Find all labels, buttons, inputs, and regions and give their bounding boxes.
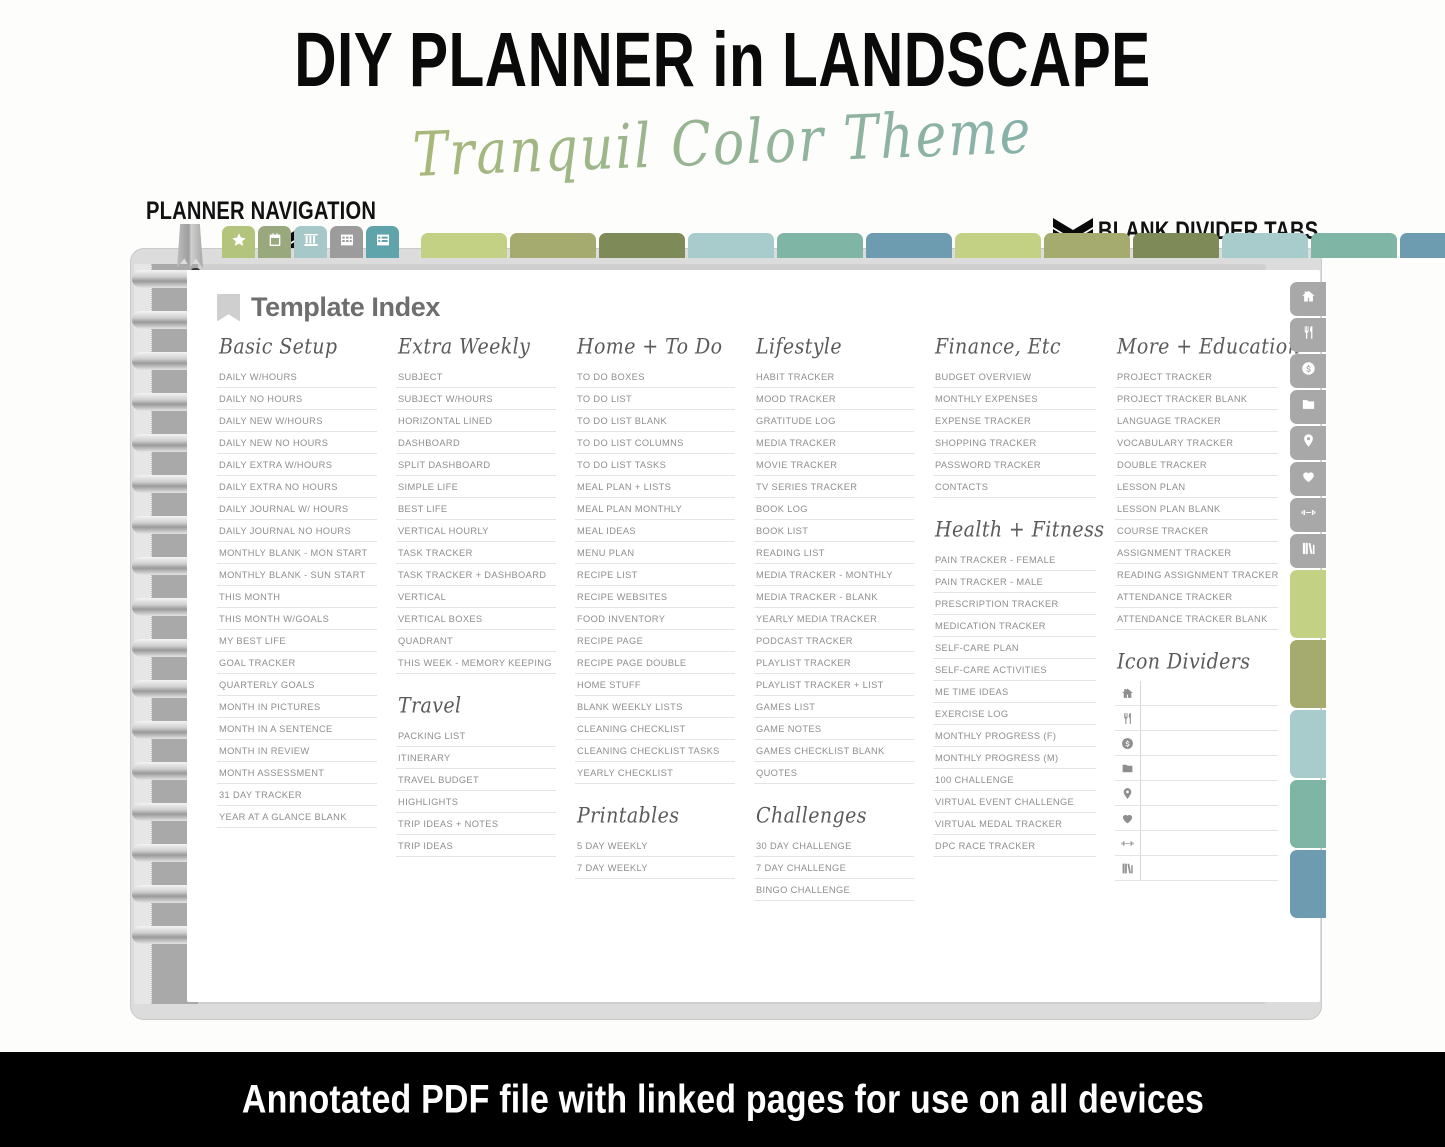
nav-tab-list[interactable] — [366, 226, 399, 258]
index-entry[interactable]: HABIT TRACKER — [754, 366, 914, 388]
page-header-row: Template Index — [187, 270, 1320, 323]
index-entry[interactable]: 7 DAY CHALLENGE — [754, 857, 914, 879]
side-tab-books[interactable] — [1290, 534, 1326, 568]
side-tab-home[interactable] — [1290, 282, 1326, 316]
index-entry[interactable]: CONTACTS — [933, 476, 1096, 498]
blank-divider-tab[interactable] — [1133, 233, 1219, 258]
nav-tab-star[interactable] — [222, 226, 255, 258]
index-entry[interactable]: SELF-CARE PLAN — [933, 637, 1096, 659]
location-icon — [1115, 781, 1141, 805]
footer-banner: Annotated PDF file with linked pages for… — [0, 1052, 1445, 1147]
index-entry[interactable]: 31 DAY TRACKER — [217, 784, 377, 806]
icon-divider-row[interactable] — [1115, 831, 1278, 856]
side-blank-divider-tab[interactable] — [1290, 780, 1326, 848]
index-entry[interactable]: RECIPE WEBSITES — [575, 586, 735, 608]
section-title: More + Education — [1117, 334, 1278, 359]
index-entry[interactable]: SUBJECT — [396, 366, 556, 388]
index-entry[interactable]: READING LIST — [754, 542, 914, 564]
blank-divider-tab[interactable] — [510, 233, 596, 258]
index-entry[interactable]: LESSON PLAN BLANK — [1115, 498, 1278, 520]
bookmark-ribbon — [177, 224, 203, 268]
index-entry[interactable]: MONTH IN A SENTENCE — [217, 718, 377, 740]
home-icon — [1301, 289, 1316, 309]
index-entry[interactable]: THIS MONTH — [217, 586, 377, 608]
index-entry[interactable]: TRAVEL BUDGET — [396, 769, 556, 791]
index-entry[interactable]: GAMES CHECKLIST BLANK — [754, 740, 914, 762]
blank-divider-tab[interactable] — [421, 233, 507, 258]
index-entry[interactable]: THIS WEEK - MEMORY KEEPING — [396, 652, 556, 674]
side-blank-divider-tab[interactable] — [1290, 640, 1326, 708]
index-column: LifestyleHABIT TRACKERMOOD TRACKERGRATIT… — [754, 337, 914, 901]
index-entry[interactable]: MEAL PLAN + LISTS — [575, 476, 735, 498]
index-entry[interactable]: SUBJECT W/HOURS — [396, 388, 556, 410]
index-entry[interactable]: GAME NOTES — [754, 718, 914, 740]
fitness-icon — [1301, 505, 1316, 525]
index-entry[interactable]: PAIN TRACKER - MALE — [933, 571, 1096, 593]
nav-tab-calendar[interactable] — [258, 226, 291, 258]
index-entry[interactable]: PODCAST TRACKER — [754, 630, 914, 652]
index-entry[interactable]: MONTH IN REVIEW — [217, 740, 377, 762]
index-entry[interactable]: TO DO LIST — [575, 388, 735, 410]
location-icon — [1301, 433, 1316, 453]
section-title: Health + Fitness — [935, 517, 1096, 542]
index-entry[interactable]: ITINERARY — [396, 747, 556, 769]
index-entry[interactable]: DOUBLE TRACKER — [1115, 454, 1278, 476]
icon-divider-row[interactable] — [1115, 681, 1278, 706]
index-entry[interactable]: RECIPE PAGE DOUBLE — [575, 652, 735, 674]
blank-divider-tab[interactable] — [866, 233, 952, 258]
index-entry[interactable]: PLAYLIST TRACKER — [754, 652, 914, 674]
blank-divider-tab[interactable] — [777, 233, 863, 258]
index-entry[interactable]: 5 DAY WEEKLY — [575, 835, 735, 857]
index-entry[interactable]: GOAL TRACKER — [217, 652, 377, 674]
section-title: Challenges — [756, 803, 914, 828]
index-entry[interactable]: DAILY NO HOURS — [217, 388, 377, 410]
footer-text: Annotated PDF file with linked pages for… — [241, 1077, 1203, 1123]
index-entry[interactable]: DASHBOARD — [396, 432, 556, 454]
index-entry[interactable]: EXERCISE LOG — [933, 703, 1096, 725]
star-icon — [231, 232, 247, 253]
side-tab-restaurant[interactable] — [1290, 318, 1326, 352]
index-entry[interactable]: COURSE TRACKER — [1115, 520, 1278, 542]
page-header: DIY PLANNER in LANDSCAPE Tranquil Color … — [0, 0, 1445, 174]
money-icon — [1115, 731, 1141, 755]
index-entry[interactable]: MEAL PLAN MONTHLY — [575, 498, 735, 520]
index-entry[interactable]: QUOTES — [754, 762, 914, 784]
blank-divider-tab[interactable] — [688, 233, 774, 258]
restaurant-icon — [1301, 325, 1316, 345]
index-entry[interactable]: MEAL IDEAS — [575, 520, 735, 542]
nav-tab-grid[interactable] — [330, 226, 363, 258]
index-entry[interactable]: DPC RACE TRACKER — [933, 835, 1096, 857]
index-columns: Basic SetupDAILY W/HOURSDAILY NO HOURSDA… — [187, 323, 1320, 901]
side-tab-folder[interactable] — [1290, 390, 1326, 424]
side-blank-divider-tab[interactable] — [1290, 570, 1326, 638]
page-title: Template Index — [251, 292, 440, 323]
side-tab-location[interactable] — [1290, 426, 1326, 460]
money-icon — [1301, 361, 1316, 381]
index-entry[interactable]: MONTHLY EXPENSES — [933, 388, 1096, 410]
index-entry[interactable]: BINGO CHALLENGE — [754, 879, 914, 901]
index-entry[interactable]: FOOD INVENTORY — [575, 608, 735, 630]
books-icon — [1115, 856, 1141, 880]
index-entry[interactable]: VOCABULARY TRACKER — [1115, 432, 1278, 454]
blank-divider-tab[interactable] — [1044, 233, 1130, 258]
heart-icon — [1115, 806, 1141, 830]
index-entry[interactable]: QUARTERLY GOALS — [217, 674, 377, 696]
index-entry[interactable]: DAILY EXTRA W/HOURS — [217, 454, 377, 476]
index-entry[interactable]: CLEANING CHECKLIST TASKS — [575, 740, 735, 762]
index-entry[interactable]: MEDIA TRACKER - BLANK — [754, 586, 914, 608]
index-entry[interactable]: THIS MONTH W/GOALS — [217, 608, 377, 630]
index-entry[interactable]: DAILY W/HOURS — [217, 366, 377, 388]
index-entry[interactable]: CLEANING CHECKLIST — [575, 718, 735, 740]
blank-divider-tab[interactable] — [1311, 233, 1397, 258]
index-entry[interactable]: RECIPE LIST — [575, 564, 735, 586]
index-entry[interactable]: HOME STUFF — [575, 674, 735, 696]
blank-divider-tab[interactable] — [955, 233, 1041, 258]
index-entry[interactable]: YEARLY MEDIA TRACKER — [754, 608, 914, 630]
index-entry[interactable]: MEDIA TRACKER — [754, 432, 914, 454]
index-entry[interactable]: ASSIGNMENT TRACKER — [1115, 542, 1278, 564]
bookmark-icon — [217, 294, 240, 322]
index-column: Home + To DoTO DO BOXESTO DO LISTTO DO L… — [575, 337, 735, 901]
index-entry[interactable]: PLAYLIST TRACKER + LIST — [754, 674, 914, 696]
index-entry[interactable]: ATTENDANCE TRACKER — [1115, 586, 1278, 608]
index-entry[interactable]: ME TIME IDEAS — [933, 681, 1096, 703]
index-entry[interactable]: READING ASSIGNMENT TRACKER — [1115, 564, 1278, 586]
index-entry[interactable]: TO DO LIST TASKS — [575, 454, 735, 476]
index-entry[interactable]: PAIN TRACKER - FEMALE — [933, 549, 1096, 571]
index-entry[interactable]: DAILY EXTRA NO HOURS — [217, 476, 377, 498]
side-tab-fitness[interactable] — [1290, 498, 1326, 532]
index-entry[interactable]: EXPENSE TRACKER — [933, 410, 1096, 432]
blank-divider-tab[interactable] — [1400, 233, 1445, 258]
index-entry[interactable]: BEST LIFE — [396, 498, 556, 520]
index-entry[interactable]: DAILY NEW W/HOURS — [217, 410, 377, 432]
icon-divider-row[interactable] — [1115, 731, 1278, 756]
heart-icon — [1301, 469, 1316, 489]
index-entry[interactable]: VERTICAL — [396, 586, 556, 608]
planner-book: Template Index Basic SetupDAILY W/HOURSD… — [130, 248, 1322, 1020]
index-entry[interactable]: PASSWORD TRACKER — [933, 454, 1096, 476]
section-title: Icon Dividers — [1117, 649, 1278, 674]
restaurant-icon — [1115, 706, 1141, 730]
calendar-icon — [267, 232, 283, 253]
list-icon — [375, 232, 391, 253]
index-entry[interactable]: VERTICAL BOXES — [396, 608, 556, 630]
index-entry[interactable]: PRESCRIPTION TRACKER — [933, 593, 1096, 615]
index-entry[interactable]: 100 CHALLENGE — [933, 769, 1096, 791]
icon-divider-row[interactable] — [1115, 756, 1278, 781]
index-entry[interactable]: BLANK WEEKLY LISTS — [575, 696, 735, 718]
weekly-icon — [303, 232, 319, 253]
blank-divider-tab[interactable] — [1222, 233, 1308, 258]
index-entry[interactable]: SHOPPING TRACKER — [933, 432, 1096, 454]
index-entry[interactable]: 7 DAY WEEKLY — [575, 857, 735, 879]
side-blank-divider-tab[interactable] — [1290, 710, 1326, 778]
index-entry[interactable]: MONTHLY PROGRESS (M) — [933, 747, 1096, 769]
folder-icon — [1115, 756, 1141, 780]
top-tab-strip[interactable] — [222, 226, 1445, 258]
grid-icon — [339, 232, 355, 253]
index-entry[interactable]: MY BEST LIFE — [217, 630, 377, 652]
index-entry[interactable]: MOOD TRACKER — [754, 388, 914, 410]
index-entry[interactable]: MEDIA TRACKER - MONTHLY — [754, 564, 914, 586]
index-entry[interactable]: MONTH ASSESSMENT — [217, 762, 377, 784]
icon-divider-row[interactable] — [1115, 856, 1278, 881]
index-entry[interactable]: PACKING LIST — [396, 725, 556, 747]
index-entry[interactable]: HORIZONTAL LINED — [396, 410, 556, 432]
index-entry[interactable]: DAILY JOURNAL NO HOURS — [217, 520, 377, 542]
side-tab-strip[interactable] — [1282, 282, 1326, 918]
index-entry[interactable]: PROJECT TRACKER BLANK — [1115, 388, 1278, 410]
section-title: Home + To Do — [577, 334, 735, 359]
index-entry[interactable]: MENU PLAN — [575, 542, 735, 564]
index-entry[interactable]: DAILY JOURNAL W/ HOURS — [217, 498, 377, 520]
index-entry[interactable]: TO DO BOXES — [575, 366, 735, 388]
index-column: More + EducationPROJECT TRACKERPROJECT T… — [1115, 337, 1278, 901]
section-title: Printables — [577, 803, 735, 828]
index-column: Finance, EtcBUDGET OVERVIEWMONTHLY EXPEN… — [933, 337, 1096, 901]
section-title: Extra Weekly — [398, 334, 556, 359]
index-entry[interactable]: TRIP IDEAS — [396, 835, 556, 857]
side-tab-money[interactable] — [1290, 354, 1326, 388]
index-column: Basic SetupDAILY W/HOURSDAILY NO HOURSDA… — [217, 337, 377, 901]
index-entry[interactable]: RECIPE PAGE — [575, 630, 735, 652]
index-entry[interactable]: MOVIE TRACKER — [754, 454, 914, 476]
index-entry[interactable]: TO DO LIST COLUMNS — [575, 432, 735, 454]
index-entry[interactable]: GRATITUDE LOG — [754, 410, 914, 432]
index-entry[interactable]: MONTHLY BLANK - SUN START — [217, 564, 377, 586]
index-entry[interactable]: TASK TRACKER + DASHBOARD — [396, 564, 556, 586]
books-icon — [1301, 541, 1316, 561]
index-entry[interactable]: ATTENDANCE TRACKER BLANK — [1115, 608, 1278, 630]
index-entry[interactable]: YEAR AT A GLANCE BLANK — [217, 806, 377, 828]
index-entry[interactable]: BOOK LOG — [754, 498, 914, 520]
blank-divider-tab[interactable] — [599, 233, 685, 258]
index-entry[interactable]: YEARLY CHECKLIST — [575, 762, 735, 784]
home-icon — [1115, 681, 1141, 705]
index-entry[interactable]: SELF-CARE ACTIVITIES — [933, 659, 1096, 681]
index-entry[interactable]: BUDGET OVERVIEW — [933, 366, 1096, 388]
index-entry[interactable]: SPLIT DASHBOARD — [396, 454, 556, 476]
index-entry[interactable]: MONTH IN PICTURES — [217, 696, 377, 718]
nav-tab-weekly[interactable] — [294, 226, 327, 258]
index-entry[interactable]: MEDICATION TRACKER — [933, 615, 1096, 637]
index-entry[interactable]: PROJECT TRACKER — [1115, 366, 1278, 388]
icon-divider-row[interactable] — [1115, 781, 1278, 806]
planner-page: Template Index Basic SetupDAILY W/HOURSD… — [187, 270, 1320, 1002]
index-entry[interactable]: 30 DAY CHALLENGE — [754, 835, 914, 857]
section-title: Finance, Etc — [935, 334, 1096, 359]
icon-divider-row[interactable] — [1115, 806, 1278, 831]
index-entry[interactable]: GAMES LIST — [754, 696, 914, 718]
side-tab-heart[interactable] — [1290, 462, 1326, 496]
index-entry[interactable]: HIGHLIGHTS — [396, 791, 556, 813]
section-title: Basic Setup — [219, 334, 377, 359]
index-entry[interactable]: DAILY NEW NO HOURS — [217, 432, 377, 454]
index-entry[interactable]: TRIP IDEAS + NOTES — [396, 813, 556, 835]
section-title: Lifestyle — [756, 334, 914, 359]
index-entry[interactable]: LANGUAGE TRACKER — [1115, 410, 1278, 432]
index-entry[interactable]: SIMPLE LIFE — [396, 476, 556, 498]
fitness-icon — [1115, 831, 1141, 855]
index-entry[interactable]: QUADRANT — [396, 630, 556, 652]
side-blank-divider-tab[interactable] — [1290, 850, 1326, 918]
index-entry[interactable]: TO DO LIST BLANK — [575, 410, 735, 432]
index-entry[interactable]: TV SERIES TRACKER — [754, 476, 914, 498]
index-entry[interactable]: VERTICAL HOURLY — [396, 520, 556, 542]
index-entry[interactable]: LESSON PLAN — [1115, 476, 1278, 498]
index-entry[interactable]: MONTHLY PROGRESS (F) — [933, 725, 1096, 747]
index-entry[interactable]: VIRTUAL EVENT CHALLENGE — [933, 791, 1096, 813]
main-title: DIY PLANNER in LANDSCAPE — [51, 26, 1395, 97]
index-entry[interactable]: MONTHLY BLANK - MON START — [217, 542, 377, 564]
index-entry[interactable]: VIRTUAL MEDAL TRACKER — [933, 813, 1096, 835]
index-entry[interactable]: BOOK LIST — [754, 520, 914, 542]
annotation-planner-navigation: PLANNER NAVIGATION — [146, 198, 376, 226]
folder-icon — [1301, 397, 1316, 417]
icon-divider-row[interactable] — [1115, 706, 1278, 731]
index-entry[interactable]: TASK TRACKER — [396, 542, 556, 564]
section-title: Travel — [398, 693, 556, 718]
index-column: Extra WeeklySUBJECTSUBJECT W/HOURSHORIZO… — [396, 337, 556, 901]
